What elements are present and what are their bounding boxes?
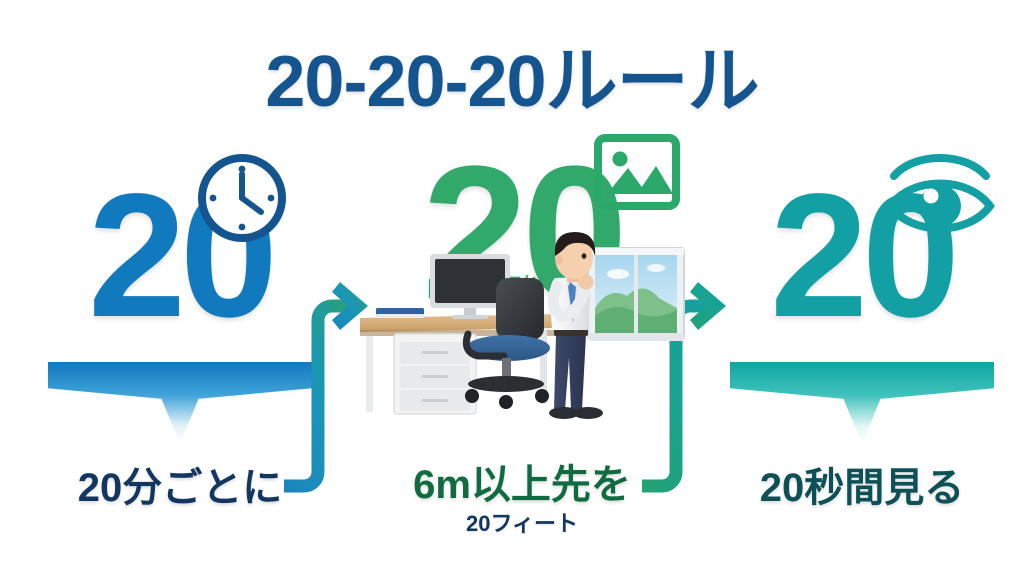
page-title: 20-20-20ルール xyxy=(0,22,1024,127)
infographic-canvas: 20-20-20ルール 20 20分ごとに 20 xyxy=(0,0,1024,572)
step-1-banner xyxy=(48,362,312,444)
step-3-group: 20 20秒間見る xyxy=(712,130,1012,550)
book xyxy=(376,308,424,318)
eye-icon xyxy=(882,150,998,243)
clock-icon xyxy=(196,152,288,249)
step-3-caption: 20秒間見る xyxy=(712,455,1012,513)
step-2-subcaption: 20フィート xyxy=(372,506,672,538)
step-3-banner xyxy=(730,362,994,444)
step-2-caption: 6m以上先を xyxy=(372,452,672,510)
window xyxy=(588,248,684,341)
photo-icon xyxy=(594,134,680,215)
office-illustration xyxy=(356,230,716,445)
